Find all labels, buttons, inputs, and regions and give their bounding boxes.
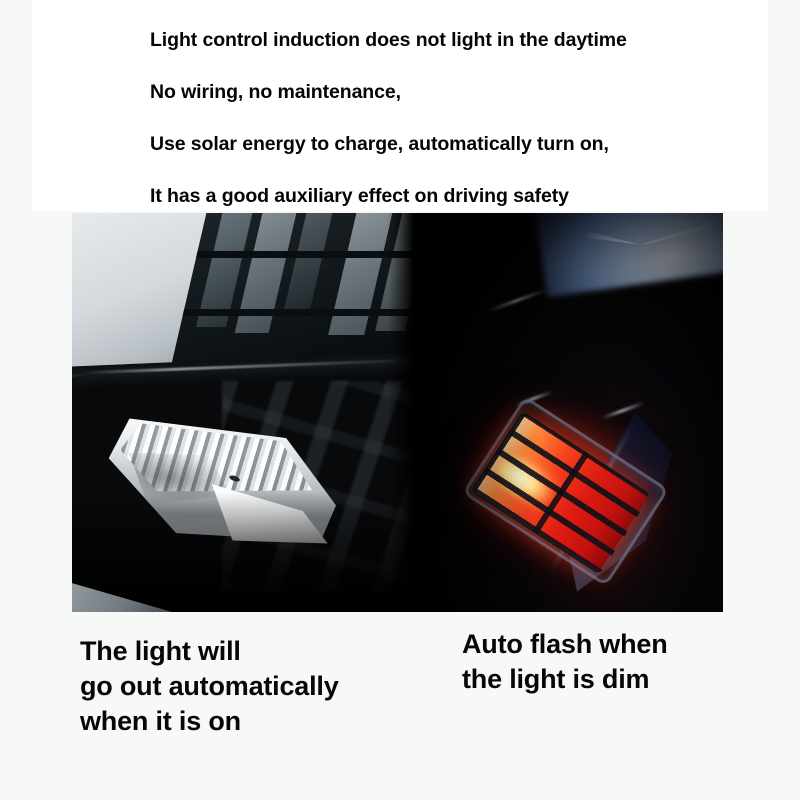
headline-line-2: No wiring, no maintenance, (150, 66, 750, 118)
headline-line-3: Use solar energy to charge, automaticall… (150, 118, 750, 170)
caption-left-line-2: go out automatically (80, 669, 339, 704)
lower-shadow-fade (72, 492, 430, 612)
caption-right: Auto flash when the light is dim (462, 627, 668, 697)
photo-daytime-light-off (72, 213, 430, 612)
caption-right-line-1: Auto flash when (462, 627, 668, 662)
headline-list: Light control induction does not light i… (150, 14, 750, 222)
right-edge-shadow (388, 213, 430, 612)
night-vignette (430, 213, 723, 612)
caption-right-line-2: the light is dim (462, 662, 668, 697)
photo-night-light-on (430, 213, 723, 612)
headline-line-1: Light control induction does not light i… (150, 14, 750, 66)
headline-panel: Light control induction does not light i… (32, 0, 768, 211)
photo-comparison-strip (72, 213, 723, 612)
caption-left-line-3: when it is on (80, 704, 339, 739)
caption-left-line-1: The light will (80, 634, 339, 669)
caption-left: The light will go out automatically when… (80, 634, 339, 739)
